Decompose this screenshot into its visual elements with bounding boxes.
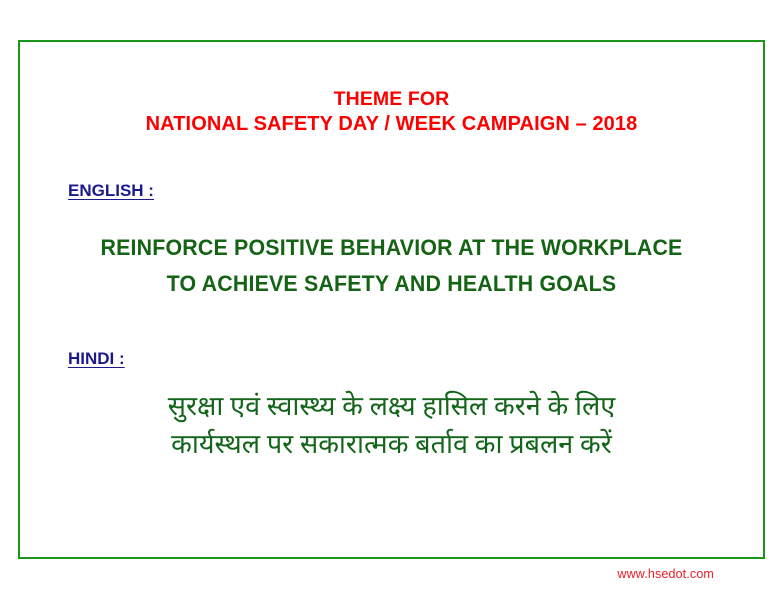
hindi-theme-line-2: कार्यस्थल पर सकारात्मक बर्ताव का प्रबलन … [20,425,763,463]
poster-title: THEME FOR NATIONAL SAFETY DAY / WEEK CAM… [20,87,763,137]
title-line-campaign: NATIONAL SAFETY DAY / WEEK CAMPAIGN – 20… [20,112,763,137]
title-line-theme-for: THEME FOR [20,87,763,112]
site-watermark: www.hsedot.com [617,566,714,582]
english-theme-line-1: REINFORCE POSITIVE BEHAVIOR AT THE WORKP… [31,230,752,266]
english-theme-line-2: TO ACHIEVE SAFETY AND HEALTH GOALS [31,266,752,302]
hindi-section-label: HINDI : [68,349,125,369]
english-section-label: ENGLISH : [68,181,154,201]
english-theme-text: REINFORCE POSITIVE BEHAVIOR AT THE WORKP… [20,230,763,302]
hindi-theme-line-1: सुरक्षा एवं स्वास्थ्य के लक्ष्य हासिल कर… [20,387,763,425]
hindi-theme-text: सुरक्षा एवं स्वास्थ्य के लक्ष्य हासिल कर… [20,387,763,463]
poster-frame: THEME FOR NATIONAL SAFETY DAY / WEEK CAM… [18,40,765,559]
